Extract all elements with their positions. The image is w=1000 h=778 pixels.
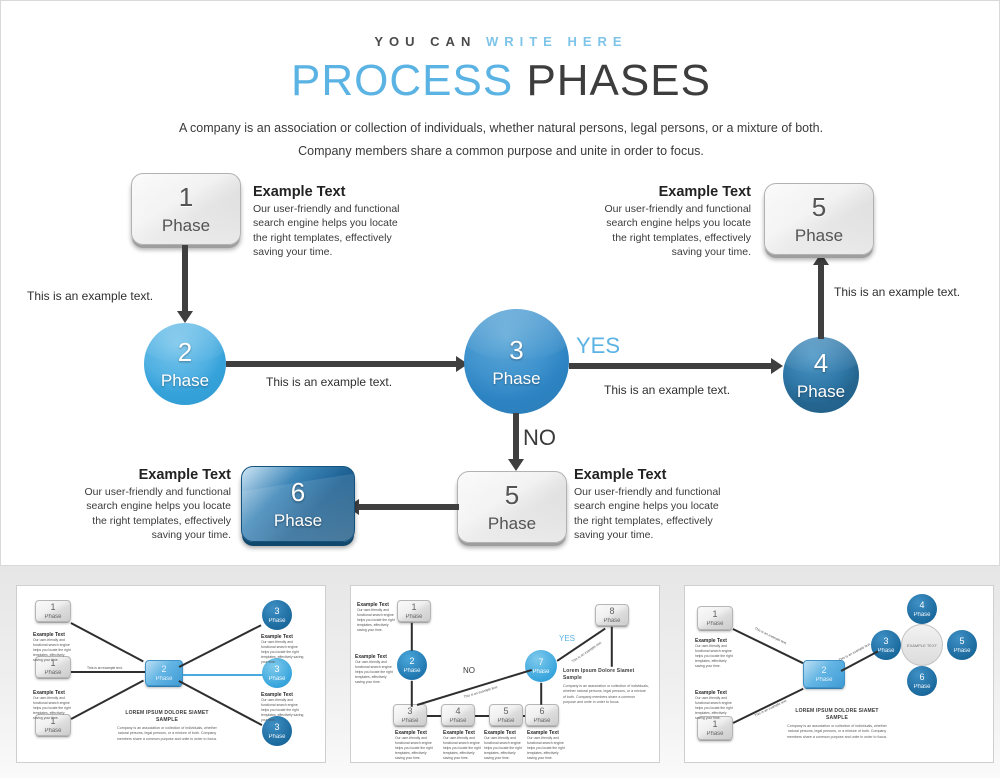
thumb1-example-b: Example Text Our user-friendly and funct…	[33, 690, 75, 721]
thumb3-node-1b-label: Phase	[706, 731, 723, 737]
thumb2-node-1-label: Phase	[405, 614, 422, 620]
thumb2-node-6-label: Phase	[533, 718, 550, 724]
thumb3-node-5-number: 5	[959, 637, 964, 646]
thumb1-lorem: LOREM IPSUM DOLORE SIAMET SAMPLE Company…	[115, 710, 219, 742]
thumb1-link-1a	[71, 622, 144, 662]
thumb3-caption-c: This is an example text.	[838, 642, 871, 662]
thumb2-link-5-6	[523, 715, 525, 717]
thumb3-node-6-number: 6	[919, 673, 924, 682]
thumb2-example-d: Example Text Our user-friendly and funct…	[443, 730, 483, 761]
eyebrow-plain: YOU CAN	[374, 34, 476, 49]
thumb3-node-2-number: 2	[821, 666, 826, 675]
thumb1-example-a: Example Text Our user-friendly and funct…	[33, 632, 75, 663]
thumb1-node-1b-label: Phase	[44, 670, 61, 676]
main-slide: YOU CAN WRITE HERE PROCESS PHASES A comp…	[0, 0, 1000, 566]
thumb1-node-2: 2 Phase	[145, 660, 183, 686]
example-body: Our user-friendly and functional search …	[261, 698, 305, 723]
thumb2-node-1: 1 Phase	[397, 600, 431, 622]
thumbnail-strip: 1 Phase 1 Phase 1 Phase 2 Phase 3 Phase …	[0, 566, 1000, 778]
thumb2-node-5-label: Phase	[497, 718, 514, 724]
thumb3-node-5: 5 Phase	[947, 630, 977, 660]
page-title: PROCESS PHASES	[1, 56, 1000, 106]
thumb1-node-3b-number: 3	[274, 665, 279, 674]
phase-1-label: Phase	[162, 217, 210, 234]
thumb1-node-2-number: 2	[161, 665, 166, 674]
thumb2-example-b: Example Text Our user-friendly and funct…	[355, 654, 395, 685]
thumb3-node-2-label: Phase	[815, 677, 832, 683]
thumb1-node-1a-label: Phase	[44, 614, 61, 620]
subtitle-paragraph: A company is an association or collectio…	[151, 117, 851, 163]
thumb2-link-3-4	[427, 715, 441, 717]
thumb1-node-3a: 3 Phase	[262, 600, 292, 630]
thumb2-node-8-label: Phase	[603, 618, 620, 624]
lorem-body: Company is an association or collection …	[563, 684, 649, 706]
example-body: Our user-friendly and functional search …	[601, 202, 751, 260]
thumb3-node-4-label: Phase	[913, 612, 930, 618]
eyebrow-accent: WRITE HERE	[486, 34, 628, 49]
thumb3-node-2: 2 Phase	[803, 660, 845, 688]
example-body: Our user-friendly and functional search …	[357, 608, 397, 633]
phase-3-number: 3	[509, 337, 523, 363]
example-heading: Example Text	[81, 467, 231, 483]
thumb3-node-3-label: Phase	[877, 648, 894, 654]
thumb2-node-3: 3 Phase	[393, 704, 427, 726]
thumb2-example-f: Example Text Our user-friendly and funct…	[527, 730, 567, 761]
connector-4-to-5top	[818, 263, 824, 339]
thumb3-example-a: Example Text Our user-friendly and funct…	[695, 638, 737, 669]
node-phase-5-bottom[interactable]: 5 Phase	[457, 471, 567, 543]
thumb1-link-3a	[179, 624, 262, 667]
example-heading: Example Text	[253, 184, 403, 200]
thumb1-node-1c-label: Phase	[44, 728, 61, 734]
thumb3-node-4-number: 4	[919, 601, 924, 610]
example-body: Our user-friendly and functional search …	[395, 736, 435, 761]
thumb2-node-2-number: 2	[409, 657, 414, 666]
connector-3-to-4	[569, 363, 775, 369]
lorem-body: Company is an association or collection …	[785, 724, 889, 740]
phase-5-top-number: 5	[812, 194, 826, 220]
example-text-phase-1: Example Text Our user-friendly and funct…	[253, 184, 403, 260]
thumb2-node-1-number: 1	[411, 603, 416, 612]
node-phase-2[interactable]: 2 Phase	[144, 323, 226, 405]
thumb2-link-8-down	[611, 627, 613, 667]
connector-2-to-3	[226, 361, 460, 367]
caption-right-top: This is an example text.	[834, 285, 960, 299]
example-body: Our user-friendly and functional search …	[484, 736, 524, 761]
example-body: Our user-friendly and functional search …	[695, 644, 737, 669]
thumb1-node-3c-label: Phase	[268, 734, 285, 740]
lorem-title: LOREM IPSUM DOLORE SIAMET SAMPLE	[115, 710, 219, 723]
lorem-title: Lorem Ipsum Dolore Siamet Sample	[563, 668, 649, 681]
decision-yes-label: YES	[576, 333, 620, 359]
phase-6-label: Phase	[274, 512, 322, 529]
arrow-3-to-4	[771, 358, 783, 374]
thumb2-lorem: Lorem Ipsum Dolore Siamet Sample Company…	[563, 668, 649, 706]
thumb3-node-6: 6 Phase	[907, 666, 937, 696]
phase-5-bottom-number: 5	[505, 482, 519, 508]
thumb2-example-c: Example Text Our user-friendly and funct…	[395, 730, 435, 761]
lorem-title: LOREM IPSUM DOLORE SIAMET SAMPLE	[785, 708, 889, 721]
example-body: Our user-friendly and functional search …	[253, 202, 403, 260]
thumb1-node-3a-label: Phase	[268, 618, 285, 624]
thumb3-node-3-number: 3	[883, 637, 888, 646]
title-plain: PHASES	[526, 56, 711, 105]
caption-3-to-4: This is an example text.	[604, 383, 730, 397]
phase-2-number: 2	[178, 339, 192, 365]
example-body: Our user-friendly and functional search …	[695, 696, 737, 721]
title-accent: PROCESS	[291, 56, 513, 105]
thumb1-link-1b	[71, 671, 145, 673]
thumb1-node-3b-label: Phase	[268, 676, 285, 682]
thumb2-link-1-2	[411, 623, 413, 651]
example-body: Our user-friendly and functional search …	[33, 638, 75, 663]
thumb2-node-7-number: 7	[538, 658, 543, 667]
decision-no-label: NO	[523, 425, 556, 451]
connector-1-to-2	[182, 245, 188, 315]
lorem-body: Company is an association or collection …	[115, 726, 219, 742]
thumb2-link-2-3	[411, 681, 413, 707]
phase-2-label: Phase	[161, 372, 209, 389]
phase-5-top-label: Phase	[795, 227, 843, 244]
thumb2-node-5-number: 5	[503, 707, 508, 716]
thumb2-node-5: 5 Phase	[489, 704, 523, 726]
thumbnail-slide-2[interactable]: 1 Phase 2 Phase 3 Phase 4 Phase 5 Phase …	[350, 585, 660, 763]
thumb2-node-4-label: Phase	[449, 718, 466, 724]
phase-5-bottom-label: Phase	[488, 515, 536, 532]
thumb1-caption: This is an example text.	[87, 666, 123, 670]
thumb2-node-4: 4 Phase	[441, 704, 475, 726]
example-body: Our user-friendly and functional search …	[443, 736, 483, 761]
phase-4-label: Phase	[797, 383, 845, 400]
thumb1-example-c: Example Text Our user-friendly and funct…	[261, 634, 305, 665]
example-text-phase-5-bottom: Example Text Our user-friendly and funct…	[574, 467, 724, 543]
example-heading: Example Text	[574, 467, 724, 483]
node-phase-3[interactable]: 3 Phase	[464, 309, 569, 414]
example-text-phase-5-top: Example Text Our user-friendly and funct…	[601, 184, 751, 260]
example-body: Our user-friendly and functional search …	[261, 640, 305, 665]
eyebrow-text: YOU CAN WRITE HERE	[1, 34, 1000, 49]
thumb1-node-2-label: Phase	[155, 676, 172, 682]
thumb3-node-3: 3 Phase	[871, 630, 901, 660]
phase-1-number: 1	[179, 184, 193, 210]
phase-6-number: 6	[291, 479, 305, 505]
example-body: Our user-friendly and functional search …	[33, 696, 75, 721]
example-body: Our user-friendly and functional search …	[527, 736, 567, 761]
thumb3-node-1a-label: Phase	[706, 621, 723, 627]
thumb1-example-d: Example Text Our user-friendly and funct…	[261, 692, 305, 723]
node-phase-5-top[interactable]: 5 Phase	[764, 183, 874, 255]
thumb1-node-1a-number: 1	[50, 603, 55, 612]
example-body: Our user-friendly and functional search …	[81, 485, 231, 543]
connector-5bottom-to-6	[359, 504, 459, 510]
example-body: Our user-friendly and functional search …	[355, 660, 395, 685]
node-phase-6[interactable]: 6 Phase	[241, 466, 355, 542]
example-body: Our user-friendly and functional search …	[574, 485, 724, 543]
thumb3-node-1a: 1 Phase	[697, 606, 733, 630]
thumb2-node-8-number: 8	[609, 607, 614, 616]
thumbnail-slide-3[interactable]: 1 Phase 1 Phase 2 Phase 3 Phase 4 Phase …	[684, 585, 994, 763]
thumb2-node-7: 7 Phase	[525, 650, 557, 682]
thumb2-example-e: Example Text Our user-friendly and funct…	[484, 730, 524, 761]
thumb2-link-4-5	[475, 715, 489, 717]
thumb3-node-4: 4 Phase	[907, 594, 937, 624]
thumb3-node-1a-number: 1	[712, 610, 717, 619]
thumb3-node-5-label: Phase	[953, 648, 970, 654]
thumb2-node-2: 2 Phase	[397, 650, 427, 680]
node-phase-4[interactable]: 4 Phase	[783, 337, 859, 413]
thumb1-link-3b	[183, 674, 263, 676]
example-text-phase-6: Example Text Our user-friendly and funct…	[81, 467, 231, 543]
thumb1-node-3c-number: 3	[274, 723, 279, 732]
thumb2-example-a: Example Text Our user-friendly and funct…	[357, 602, 397, 633]
thumb2-node-3-number: 3	[407, 707, 412, 716]
thumb2-node-8: 8 Phase	[595, 604, 629, 626]
phase-3-label: Phase	[492, 370, 540, 387]
thumb2-node-4-number: 4	[455, 707, 460, 716]
node-phase-1[interactable]: 1 Phase	[131, 173, 241, 245]
thumb3-center-node: EXAMPLE TEXT	[901, 624, 943, 666]
thumb3-node-6-label: Phase	[913, 684, 930, 690]
thumb2-node-2-label: Phase	[403, 668, 420, 674]
arrow-1-to-2	[177, 311, 193, 323]
thumbnail-slide-1[interactable]: 1 Phase 1 Phase 1 Phase 2 Phase 3 Phase …	[16, 585, 326, 763]
thumb3-center-label: EXAMPLE TEXT	[907, 644, 937, 648]
example-heading: Example Text	[601, 184, 751, 200]
thumb1-node-1a: 1 Phase	[35, 600, 71, 622]
connector-3-to-5bottom	[513, 413, 519, 465]
thumb3-example-b: Example Text Our user-friendly and funct…	[695, 690, 737, 721]
thumb2-link-6-7	[540, 683, 542, 705]
caption-left-top: This is an example text.	[27, 289, 153, 303]
thumb2-caption-yes: This is an example text.	[571, 640, 603, 663]
thumb1-node-3a-number: 3	[274, 607, 279, 616]
thumb2-node-7-label: Phase	[532, 669, 549, 675]
thumb2-decision-no: NO	[463, 666, 475, 675]
phase-4-number: 4	[814, 350, 828, 376]
thumb3-lorem: LOREM IPSUM DOLORE SIAMET SAMPLE Company…	[785, 708, 889, 740]
thumb2-node-6-number: 6	[539, 707, 544, 716]
thumb2-node-3-label: Phase	[401, 718, 418, 724]
thumb2-node-6: 6 Phase	[525, 704, 559, 726]
thumb2-decision-yes: YES	[559, 634, 575, 643]
arrow-3-to-5bottom	[508, 459, 524, 471]
caption-2-to-3: This is an example text.	[266, 375, 392, 389]
